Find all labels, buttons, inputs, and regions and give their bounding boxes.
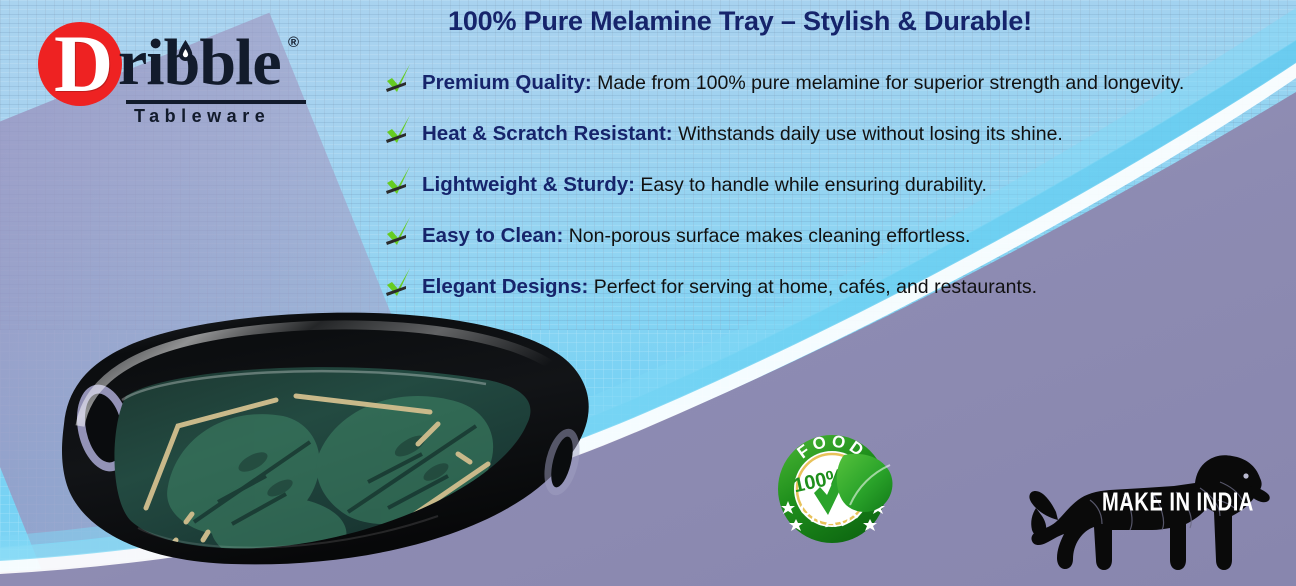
logo-wordmark: ribble [118, 30, 281, 96]
product-image-tray [18, 276, 618, 576]
water-droplet-icon [178, 40, 193, 61]
feature-list: Premium Quality: Made from 100% pure mel… [384, 57, 1284, 312]
feature-label: Heat & Scratch Resistant: [422, 122, 673, 145]
product-banner: D ribble ® Tableware 100% Pure Melamine … [0, 0, 1296, 586]
list-item: Easy to Clean: Non-porous surface makes … [384, 210, 1284, 261]
page-title: 100% Pure Melamine Tray – Stylish & Dura… [390, 6, 1090, 37]
list-item-text: Premium Quality: Made from 100% pure mel… [422, 71, 1184, 95]
feature-label: Premium Quality: [422, 71, 592, 94]
logo-letter-d: D [54, 23, 113, 105]
food-grade-seal-icon: FOOD GRADE 100% [772, 427, 904, 555]
make-in-india-label: MAKE IN INDIA [1102, 488, 1254, 518]
feature-description: Perfect for serving at home, cafés, and … [594, 276, 1037, 298]
list-item-text: Lightweight & Sturdy: Easy to handle whi… [422, 173, 987, 197]
brand-logo[interactable]: D ribble ® Tableware [30, 18, 320, 126]
feature-label: Easy to Clean: [422, 224, 563, 247]
list-item: Lightweight & Sturdy: Easy to handle whi… [384, 159, 1284, 210]
green-check-icon [384, 61, 418, 95]
feature-description: Made from 100% pure melamine for superio… [597, 72, 1184, 94]
logo-registered-mark: ® [288, 34, 299, 51]
feature-description: Easy to handle while ensuring durability… [640, 174, 987, 196]
list-item: Heat & Scratch Resistant: Withstands dai… [384, 108, 1284, 159]
feature-description: Withstands daily use without losing its … [678, 123, 1063, 145]
green-check-icon [384, 163, 418, 197]
feature-description: Non-porous surface makes cleaning effort… [569, 225, 971, 247]
feature-label: Lightweight & Sturdy: [422, 173, 635, 196]
list-item-text: Easy to Clean: Non-porous surface makes … [422, 224, 970, 248]
green-check-icon [384, 112, 418, 146]
green-check-icon [384, 214, 418, 248]
make-in-india-badge: MAKE IN INDIA [1024, 442, 1274, 577]
logo-underline [126, 100, 306, 104]
list-item-text: Heat & Scratch Resistant: Withstands dai… [422, 122, 1063, 146]
list-item: Premium Quality: Made from 100% pure mel… [384, 57, 1284, 108]
logo-subtitle: Tableware [134, 106, 270, 127]
